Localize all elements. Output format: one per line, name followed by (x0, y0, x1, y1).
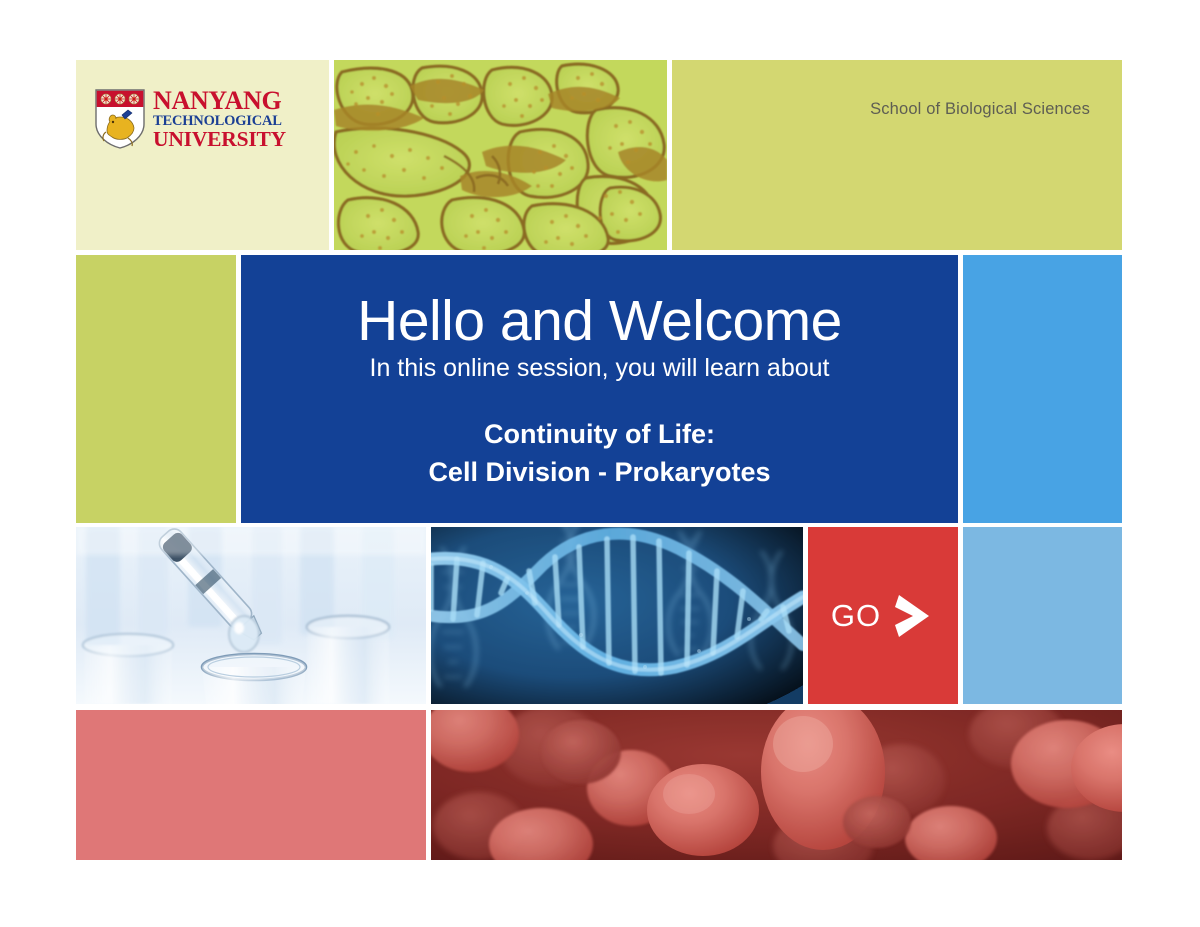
welcome-panel: Hello and Welcome In this online session… (241, 255, 958, 523)
ntu-logo: NANYANG TECHNOLOGICAL UNIVERSITY (94, 88, 286, 150)
salmon-block-bottom (76, 710, 426, 860)
light-blue-block-right (963, 527, 1122, 704)
welcome-subtitle: In this online session, you will learn a… (370, 355, 830, 383)
school-tile: School of Biological Sciences (672, 60, 1122, 250)
ntu-logo-line3: UNIVERSITY (153, 129, 286, 151)
ntu-logo-line1: NANYANG (153, 88, 286, 114)
shield-crest-icon (94, 88, 146, 150)
tissue-micrograph (334, 60, 667, 250)
pipette-test-tubes-photo (76, 527, 426, 704)
page-title: Hello and Welcome (357, 293, 842, 350)
blue-block-right (963, 255, 1122, 523)
go-button-label: GO (831, 600, 881, 631)
go-button[interactable]: GO (808, 527, 958, 704)
school-label: School of Biological Sciences (870, 100, 1090, 119)
red-blood-cells-photo (431, 710, 1122, 860)
topic-heading: Continuity of Life: Cell Division - Prok… (428, 415, 770, 492)
logo-tile: NANYANG TECHNOLOGICAL UNIVERSITY (76, 60, 329, 250)
welcome-slide: NANYANG TECHNOLOGICAL UNIVERSITY (0, 0, 1200, 927)
olive-block-left (76, 255, 236, 523)
topic-line-1: Continuity of Life: (428, 415, 770, 453)
chevron-right-icon (893, 593, 935, 639)
topic-line-2: Cell Division - Prokaryotes (428, 453, 770, 491)
ntu-logo-text: NANYANG TECHNOLOGICAL UNIVERSITY (153, 88, 286, 150)
dna-helix-photo (431, 527, 803, 704)
